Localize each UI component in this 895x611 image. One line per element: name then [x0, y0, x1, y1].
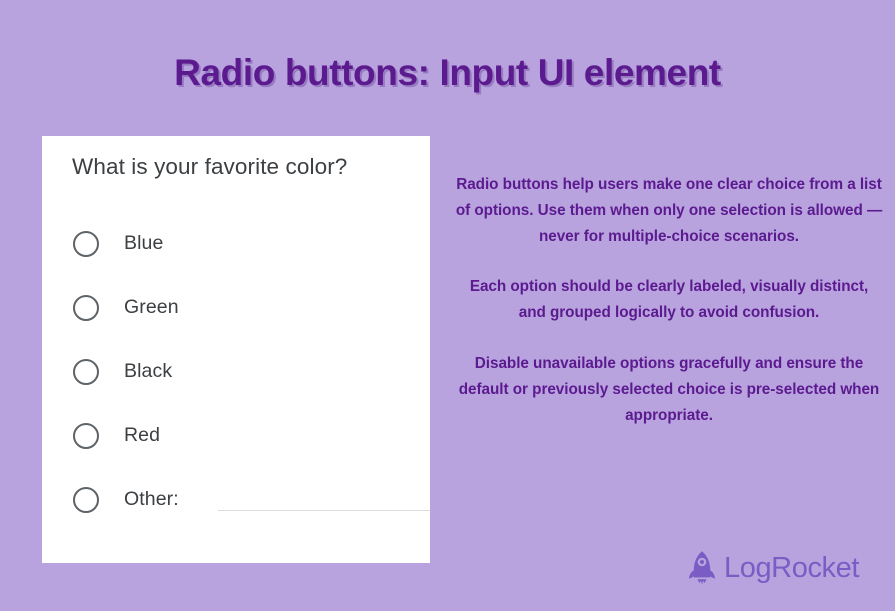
description-column: Radio buttons help users make one clear … [455, 172, 883, 428]
rocket-icon [686, 550, 718, 586]
radio-circle-icon[interactable] [73, 231, 99, 257]
other-text-input[interactable] [218, 510, 430, 511]
logrocket-logo: LogRocket [686, 550, 859, 586]
radio-option-label: Red [124, 423, 160, 447]
radio-option-label: Other: [124, 487, 179, 511]
radio-circle-icon[interactable] [73, 295, 99, 321]
radio-option-black[interactable]: Black [42, 352, 430, 416]
description-paragraph: Each option should be clearly labeled, v… [455, 274, 883, 326]
description-paragraph: Disable unavailable options gracefully a… [455, 351, 883, 428]
form-card: What is your favorite color? Blue Green … [42, 136, 430, 563]
radio-option-red[interactable]: Red [42, 416, 430, 480]
description-paragraph: Radio buttons help users make one clear … [455, 172, 883, 249]
radio-option-label: Black [124, 359, 172, 383]
logrocket-wordmark: LogRocket [724, 554, 859, 583]
radio-option-label: Blue [124, 231, 163, 255]
radio-group: Blue Green Black Red Other: [42, 224, 430, 544]
radio-option-other[interactable]: Other: [42, 480, 430, 544]
radio-circle-icon[interactable] [73, 487, 99, 513]
page-title: Radio buttons: Input UI element [0, 52, 895, 94]
form-question: What is your favorite color? [72, 154, 347, 180]
radio-circle-icon[interactable] [73, 423, 99, 449]
radio-option-green[interactable]: Green [42, 288, 430, 352]
radio-option-blue[interactable]: Blue [42, 224, 430, 288]
radio-option-label: Green [124, 295, 179, 319]
radio-circle-icon[interactable] [73, 359, 99, 385]
